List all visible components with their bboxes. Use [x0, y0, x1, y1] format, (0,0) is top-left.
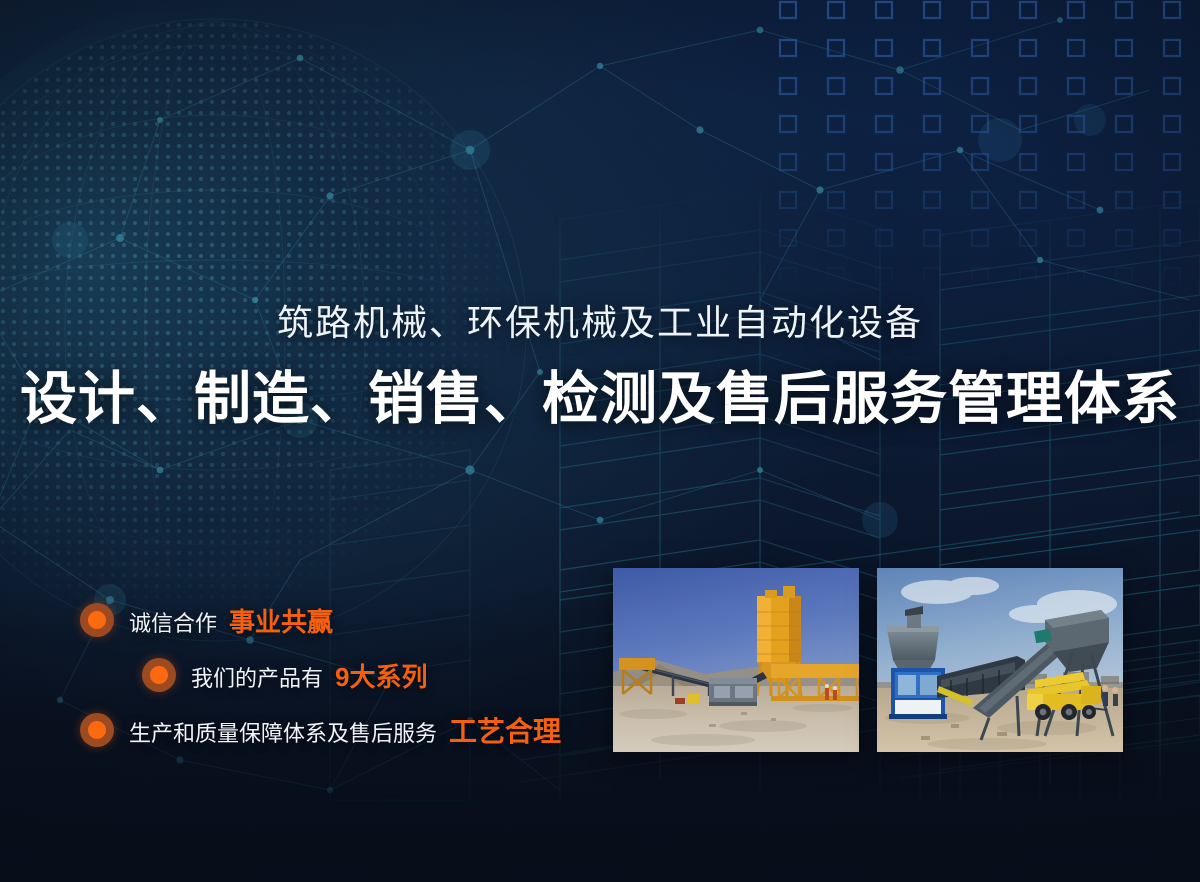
- bullet-dot-icon: [142, 658, 176, 692]
- bullet-text: 生产和质量保障体系及售后服务 工艺合理: [129, 710, 561, 750]
- mobile-mixing-plant-photo: [877, 568, 1123, 752]
- banner-subtitle: 筑路机械、环保机械及工业自动化设备: [0, 301, 1200, 344]
- list-item: 诚信合作 事业共赢: [80, 596, 600, 644]
- bullet-highlight: 事业共赢: [229, 602, 333, 639]
- banner-headline: 设计、制造、销售、检测及售后服务管理体系: [0, 366, 1200, 433]
- bullet-label: 生产和质量保障体系及售后服务: [129, 716, 437, 748]
- concrete-batching-plant-photo: [613, 568, 859, 752]
- bullet-label: 诚信合作: [129, 606, 217, 638]
- feature-bullet-list: 诚信合作 事业共赢 我们的产品有 9大系列 生产和质量保障体系及售后服务 工艺合…: [80, 596, 600, 761]
- bullet-label: 我们的产品有: [191, 661, 323, 693]
- bullet-dot-icon: [80, 713, 114, 747]
- bullet-text: 诚信合作 事业共赢: [129, 602, 333, 639]
- bullet-highlight: 工艺合理: [449, 710, 561, 750]
- bullet-highlight: 9大系列: [335, 657, 427, 694]
- hero-banner: 筑路机械、环保机械及工业自动化设备 设计、制造、销售、检测及售后服务管理体系 诚…: [0, 0, 1200, 882]
- bullet-dot-icon: [80, 603, 114, 637]
- bullet-text: 我们的产品有 9大系列: [191, 657, 427, 694]
- list-item: 我们的产品有 9大系列: [80, 651, 600, 699]
- photo-gallery: [613, 568, 1123, 752]
- list-item: 生产和质量保障体系及售后服务 工艺合理: [80, 706, 600, 754]
